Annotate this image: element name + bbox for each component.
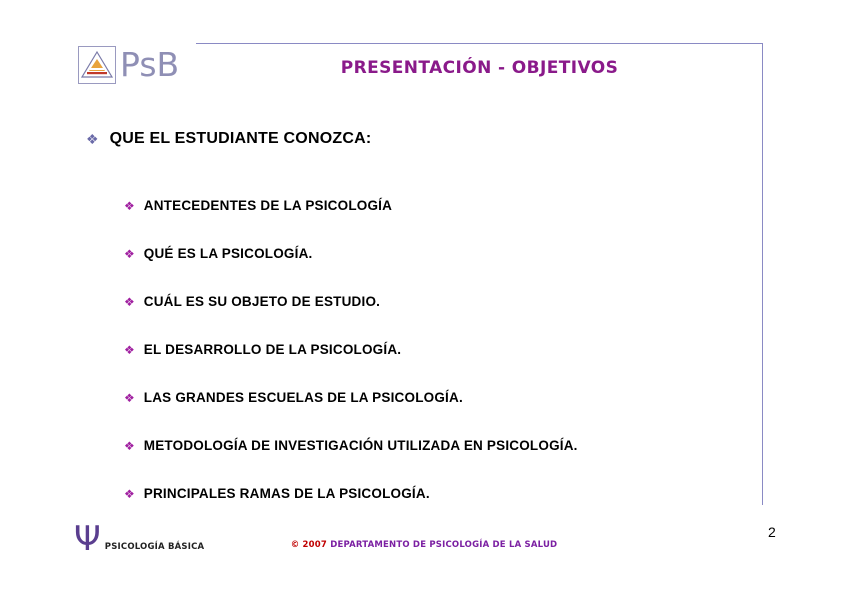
diamond-bullet-icon: ❖	[124, 341, 135, 359]
mountain-triangle-logo-icon	[78, 46, 116, 84]
page-number: 2	[768, 524, 776, 540]
list-item-label: LAS GRANDES ESCUELAS DE LA PSICOLOGÍA.	[144, 389, 463, 407]
copyright-year: © 2007	[291, 540, 327, 550]
main-list-item: ❖ QUE EL ESTUDIANTE CONOZCA:	[86, 129, 371, 149]
diamond-bullet-icon: ❖	[124, 245, 135, 263]
list-item: ❖ QUÉ ES LA PSICOLOGÍA.	[124, 245, 764, 293]
list-item-label: QUÉ ES LA PSICOLOGÍA.	[144, 245, 313, 263]
diamond-bullet-icon: ❖	[124, 293, 135, 311]
list-item: ❖ PRINCIPALES RAMAS DE LA PSICOLOGÍA.	[124, 485, 764, 533]
diamond-bullet-icon: ❖	[124, 485, 135, 503]
sub-list: ❖ ANTECEDENTES DE LA PSICOLOGÍA ❖ QUÉ ES…	[124, 197, 764, 533]
copyright-department: DEPARTAMENTO DE PSICOLOGÍA DE LA SALUD	[330, 540, 557, 550]
footer-copyright: © 2007 DEPARTAMENTO DE PSICOLOGÍA DE LA …	[0, 540, 848, 550]
list-item: ❖ LAS GRANDES ESCUELAS DE LA PSICOLOGÍA.	[124, 389, 764, 437]
diamond-bullet-icon: ❖	[124, 437, 135, 455]
list-item: ❖ EL DESARROLLO DE LA PSICOLOGÍA.	[124, 341, 764, 389]
list-item: ❖ CUÁL ES SU OBJETO DE ESTUDIO.	[124, 293, 764, 341]
header-divider	[196, 43, 763, 44]
diamond-bullet-icon: ❖	[86, 129, 99, 149]
list-item-label: METODOLOGÍA DE INVESTIGACIÓN UTILIZADA E…	[144, 437, 578, 455]
list-item-label: PRINCIPALES RAMAS DE LA PSICOLOGÍA.	[144, 485, 430, 503]
list-item-label: ANTECEDENTES DE LA PSICOLOGÍA	[144, 197, 392, 215]
list-item: ❖ METODOLOGÍA DE INVESTIGACIÓN UTILIZADA…	[124, 437, 764, 485]
list-item-label: CUÁL ES SU OBJETO DE ESTUDIO.	[144, 293, 380, 311]
list-item: ❖ ANTECEDENTES DE LA PSICOLOGÍA	[124, 197, 764, 245]
page-title: PRESENTACIÓN - OBJETIVOS	[196, 58, 763, 78]
diamond-bullet-icon: ❖	[124, 389, 135, 407]
slide: PsB PRESENTACIÓN - OBJETIVOS ❖ QUE EL ES…	[0, 0, 848, 599]
list-item-label: EL DESARROLLO DE LA PSICOLOGÍA.	[144, 341, 401, 359]
diamond-bullet-icon: ❖	[124, 197, 135, 215]
main-list-item-label: QUE EL ESTUDIANTE CONOZCA:	[110, 129, 372, 149]
psb-logo: PsB	[78, 43, 186, 87]
psb-logo-text: PsB	[120, 46, 179, 84]
